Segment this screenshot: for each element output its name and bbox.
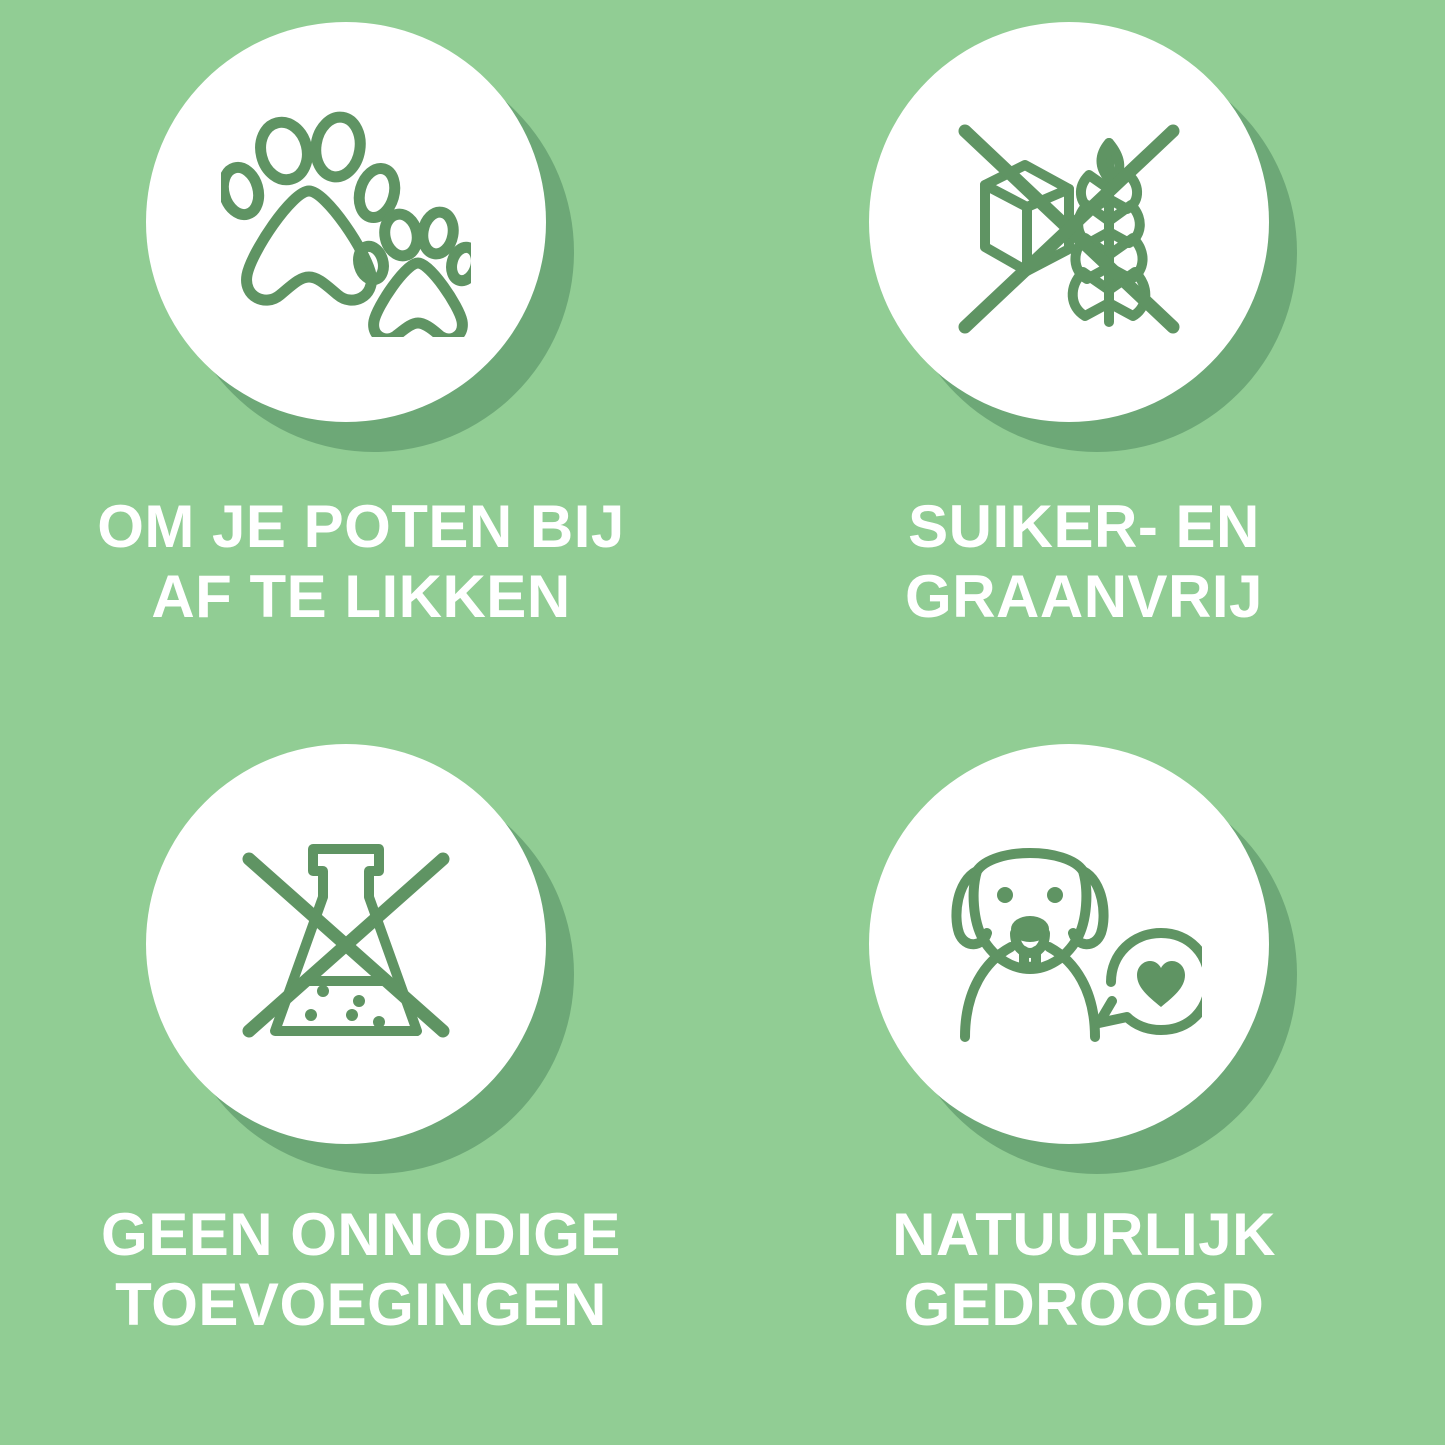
feature-badge-board: OM JE POTEN BIJ AF TE LIKKEN: [0, 0, 1445, 1445]
badge-circle: [146, 744, 546, 1144]
feature-card-sugar-grain-free: SUIKER- EN GRAANVRIJ: [723, 0, 1445, 722]
badge-sugar-grain-free: [869, 22, 1299, 452]
badge-circle: [146, 22, 546, 422]
feature-caption: OM JE POTEN BIJ AF TE LIKKEN: [0, 492, 722, 631]
feature-caption: SUIKER- EN GRAANVRIJ: [723, 492, 1445, 631]
badge-circle: [869, 22, 1269, 422]
badge-air-dried: [869, 744, 1299, 1174]
cross-out-icon: [249, 859, 443, 1031]
badge-circle: [869, 744, 1269, 1144]
feature-card-paws: OM JE POTEN BIJ AF TE LIKKEN: [0, 0, 722, 722]
dog-eyes-icon: [997, 887, 1063, 903]
no-chemicals-flask-icon: [221, 819, 471, 1069]
feature-card-air-dried: NATUURLIJK GEDROOGD: [723, 722, 1445, 1444]
dog-body-icon: [965, 947, 1095, 1037]
badge-paws: [146, 22, 576, 452]
happy-dog-heart-icon: [937, 829, 1202, 1059]
two-paw-prints-icon: [221, 107, 471, 337]
dog-nose-icon: [1011, 916, 1049, 942]
bubbles-icon: [305, 985, 385, 1028]
feature-caption: GEEN ONNODIGE TOEVOEGINGEN: [0, 1200, 722, 1339]
heart-icon: [1137, 961, 1185, 1007]
no-sugar-no-grain-icon: [939, 97, 1199, 347]
feature-card-no-additives: GEEN ONNODIGE TOEVOEGINGEN: [0, 722, 722, 1444]
feature-caption: NATUURLIJK GEDROOGD: [723, 1200, 1445, 1339]
badge-no-additives: [146, 744, 576, 1174]
speech-bubble-icon: [1099, 933, 1202, 1030]
